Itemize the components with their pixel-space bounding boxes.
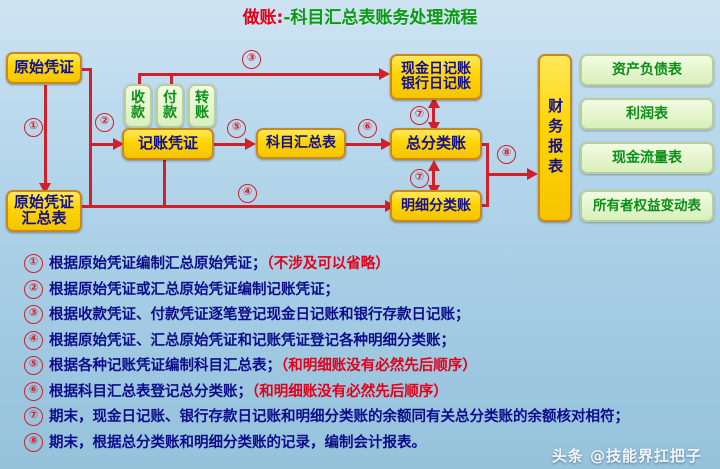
line-1-vertical	[44, 85, 47, 185]
legend-item-text: 根据收款凭证、付款凭证逐笔登记现金日记账和银行存款日记账；	[49, 303, 470, 324]
node-original-voucher-summary[interactable]: 原始凭证 汇总表	[6, 190, 82, 232]
diagram-marker-2: ②	[95, 113, 114, 132]
legend-item-text: 期末，根据总分类账和明细分类账的记录，编制会计报表。	[49, 431, 426, 452]
legend-item-text: 根据各种记账凭证编制科目汇总表；（和明细账没有必然先后顺序）	[49, 354, 477, 375]
diagram-marker-7-bottom: ⑦	[410, 169, 429, 188]
node-cash-flow-statement[interactable]: 现金流量表	[580, 142, 714, 174]
line-4-riser-from-bookkeeping	[163, 160, 166, 207]
legend-list: ①根据原始凭证编制汇总原始凭证；（不涉及可以省略）②根据原始凭证或汇总原始凭证编…	[24, 252, 714, 456]
node-financial-statements[interactable]: 财务报表	[538, 54, 572, 222]
legend-item-marker: ⑤	[24, 356, 43, 375]
node-receipt-voucher-line1: 收	[131, 91, 145, 106]
legend-item-marker: ①	[24, 254, 43, 273]
node-balance-sheet[interactable]: 资产负债表	[580, 54, 714, 86]
diagram-marker-5: ⑤	[227, 119, 246, 138]
node-receipt-voucher[interactable]: 收 款	[124, 84, 152, 128]
legend-item-marker: ④	[24, 331, 43, 350]
legend-item-main: 根据各种记账凭证编制科目汇总表；	[49, 358, 281, 374]
arrow-7b-up	[428, 160, 440, 171]
legend-item: ③根据收款凭证、付款凭证逐笔登记现金日记账和银行存款日记账；	[24, 303, 714, 324]
legend-item: ②根据原始凭证或汇总原始凭证编制记账凭证；	[24, 278, 714, 299]
line-2-trunk-vertical	[89, 68, 92, 208]
diagram-marker-3: ③	[242, 50, 261, 69]
node-subject-summary-label: 科目汇总表	[266, 136, 336, 151]
legend-item-note: （不涉及可以省略）	[267, 256, 390, 272]
legend-item-main: 根据科目汇总表登记总分类账；	[49, 384, 252, 400]
legend-item: ⑧期末，根据总分类账和明细分类账的记录，编制会计报表。	[24, 431, 714, 452]
legend-item-main: 根据原始凭证、汇总原始凭证和记账凭证登记各种明细分类账；	[49, 333, 455, 349]
node-financial-statements-label: 财务报表	[545, 98, 565, 178]
line-8-to-statements	[486, 173, 533, 176]
node-receipt-voucher-line2: 款	[131, 106, 145, 121]
legend-item-text: 根据原始凭证或汇总原始凭证编制记账凭证；	[49, 278, 339, 299]
node-payment-voucher[interactable]: 付 款	[156, 84, 184, 128]
node-cash-flow-statement-label: 现金流量表	[612, 151, 682, 166]
arrow-3-right	[379, 68, 390, 80]
line-2-into-bookkeeping	[89, 143, 115, 146]
node-transfer-voucher-line2: 账	[195, 106, 209, 121]
diagram-marker-8: ⑧	[497, 145, 516, 164]
node-original-voucher-label: 原始凭证	[14, 60, 74, 76]
legend-item-text: 期末，现金日记账、银行存款日记账和明细分类账的余额同有关总分类账的余额核对相符；	[49, 405, 629, 426]
legend-item: ⑤根据各种记账凭证编制科目汇总表；（和明细账没有必然先后顺序）	[24, 354, 714, 375]
node-general-ledger[interactable]: 总分类账	[390, 128, 482, 160]
node-cash-journal-line2: 银行日记账	[401, 77, 471, 92]
legend-item-text: 根据原始凭证编制汇总原始凭证；（不涉及可以省略）	[49, 252, 390, 273]
node-balance-sheet-label: 资产负债表	[612, 63, 682, 78]
node-equity-change-statement[interactable]: 所有者权益变动表	[580, 190, 714, 222]
legend-item-main: 根据原始凭证编制汇总原始凭证；	[49, 256, 267, 272]
page-title-red: 做账:	[243, 8, 284, 28]
node-cash-bank-journal[interactable]: 现金日记账 银行日记账	[390, 54, 482, 100]
node-subsidiary-ledger-label: 明细分类账	[401, 199, 471, 214]
legend-item-marker: ③	[24, 305, 43, 324]
legend-item-note: （和明细账没有必然先后顺序）	[252, 384, 448, 400]
legend-item-note: （和明细账没有必然先后顺序）	[281, 358, 477, 374]
diagram-marker-6: ⑥	[358, 119, 377, 138]
legend-item: ④根据原始凭证、汇总原始凭证和记账凭证登记各种明细分类账；	[24, 329, 714, 350]
arrow-5-right	[245, 138, 256, 150]
node-transfer-voucher-line1: 转	[195, 91, 209, 106]
legend-item-main: 根据原始凭证或汇总原始凭证编制记账凭证；	[49, 282, 339, 298]
legend-item-text: 根据原始凭证、汇总原始凭证和记账凭证登记各种明细分类账；	[49, 329, 455, 350]
page-title-green: -科目汇总表账务处理流程	[283, 8, 477, 28]
line-3-horizontal	[138, 73, 381, 76]
diagram-marker-4: ④	[238, 184, 257, 203]
node-payment-voucher-line2: 款	[163, 106, 177, 121]
diagram-marker-1: ①	[24, 118, 43, 137]
legend-item: ⑥根据科目汇总表登记总分类账；（和明细账没有必然先后顺序）	[24, 380, 714, 401]
node-income-statement[interactable]: 利润表	[580, 98, 714, 130]
legend-item-marker: ②	[24, 280, 43, 299]
node-transfer-voucher[interactable]: 转 账	[188, 84, 216, 128]
node-subject-summary[interactable]: 科目汇总表	[256, 128, 346, 159]
node-cash-journal-line1: 现金日记账	[401, 62, 471, 77]
legend-item-marker: ⑦	[24, 407, 43, 426]
legend-item-main: 期末，现金日记账、银行存款日记账和明细分类账的余额同有关总分类账的余额核对相符；	[49, 409, 629, 425]
legend-item-text: 根据科目汇总表登记总分类账；（和明细账没有必然先后顺序）	[49, 380, 448, 401]
line-4-horizontal	[62, 205, 392, 208]
legend-item: ⑦期末，现金日记账、银行存款日记账和明细分类账的余额同有关总分类账的余额核对相符…	[24, 405, 714, 426]
node-bookkeeping-voucher-label: 记账凭证	[138, 136, 198, 152]
node-bookkeeping-voucher[interactable]: 记账凭证	[122, 128, 214, 160]
legend-item-marker: ⑧	[24, 433, 43, 452]
node-payment-voucher-line1: 付	[163, 91, 177, 106]
diagram-canvas: 做账:-科目汇总表账务处理流程 ① ② ③ ④ ⑤ ⑥ ⑦ ⑦ ⑧ 原始凭证	[0, 0, 720, 469]
diagram-marker-7-top: ⑦	[410, 106, 429, 125]
legend-item: ①根据原始凭证编制汇总原始凭证；（不涉及可以省略）	[24, 252, 714, 273]
node-equity-change-statement-label: 所有者权益变动表	[593, 199, 701, 213]
page-title: 做账:-科目汇总表账务处理流程	[0, 3, 720, 28]
node-original-voucher[interactable]: 原始凭证	[6, 52, 82, 84]
legend-item-main: 根据收款凭证、付款凭证逐笔登记现金日记账和银行存款日记账；	[49, 307, 470, 323]
node-subsidiary-ledger[interactable]: 明细分类账	[390, 190, 482, 222]
node-income-statement-label: 利润表	[626, 107, 668, 122]
arrow-8-right	[527, 168, 538, 180]
node-general-ledger-label: 总分类账	[406, 136, 466, 152]
legend-item-main: 期末，根据总分类账和明细分类账的记录，编制会计报表。	[49, 435, 426, 451]
legend-item-marker: ⑥	[24, 382, 43, 401]
node-original-voucher-summary-line2: 汇总表	[21, 211, 66, 227]
